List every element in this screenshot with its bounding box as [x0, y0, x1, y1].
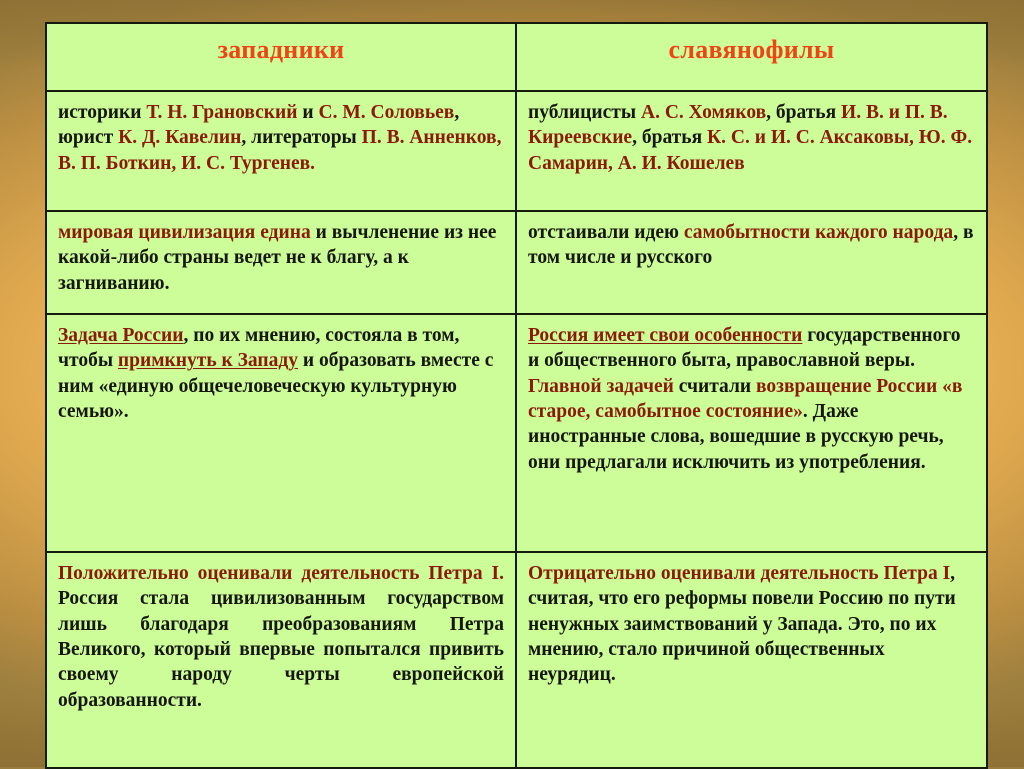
text-segment: , братья — [632, 127, 707, 148]
text-segment: , братья — [766, 102, 841, 123]
text-segment: мировая цивилизация едина — [58, 222, 311, 243]
column-header-westernizers: западники — [46, 23, 516, 91]
table-row: историки Т. Н. Грановский и С. М. Соловь… — [46, 91, 987, 211]
text-segment: Россия стала цивилизованным государством… — [58, 588, 504, 710]
cell-representatives-west: историки Т. Н. Грановский и С. М. Соловь… — [46, 91, 516, 211]
table-row: мировая цивилизация едина и вычленение и… — [46, 211, 987, 314]
text-segment: С. М. Соловьев — [319, 102, 455, 123]
slide-canvas: западники славянофилы историки Т. Н. Гра… — [0, 0, 1024, 767]
cell-civilization-view-slav: отстаивали идею самобытности каждого нар… — [516, 211, 987, 314]
comparison-table-wrapper: западники славянофилы историки Т. Н. Гра… — [45, 22, 986, 769]
text-segment: публицисты — [528, 102, 641, 123]
text-segment: Отрицательно оценивали деятельность Петр… — [528, 563, 950, 584]
text-segment: А. С. Хомяков — [641, 102, 766, 123]
text-segment: Россия имеет свои особенности — [528, 325, 802, 346]
cell-peter-the-great-slav: Отрицательно оценивали деятельность Петр… — [516, 552, 987, 768]
cell-civilization-view-west: мировая цивилизация едина и вычленение и… — [46, 211, 516, 314]
text-segment: К. Д. Кавелин — [118, 127, 241, 148]
cell-peter-the-great-west: Положительно оценивали деятельность Петр… — [46, 552, 516, 768]
text-segment: , литераторы — [241, 127, 361, 148]
text-segment: Главной задачей — [528, 376, 674, 397]
cell-representatives-slav: публицисты А. С. Хомяков, братья И. В. и… — [516, 91, 987, 211]
text-segment: отстаивали идею — [528, 222, 684, 243]
comparison-table: западники славянофилы историки Т. Н. Гра… — [45, 22, 988, 769]
table-row: Задача России, по их мнению, состояла в … — [46, 314, 987, 552]
text-segment: историки — [58, 102, 146, 123]
text-segment: Т. Н. Грановский — [146, 102, 297, 123]
cell-russia-task-west: Задача России, по их мнению, состояла в … — [46, 314, 516, 552]
text-segment: и — [298, 102, 319, 123]
table-header-row: западники славянофилы — [46, 23, 987, 91]
text-segment: считали — [674, 376, 756, 397]
text-segment: примкнуть к Западу — [118, 350, 298, 371]
table-row: Положительно оценивали деятельность Петр… — [46, 552, 987, 768]
text-segment: самобытности каждого народа — [684, 222, 953, 243]
text-segment: Положительно оценивали деятельность Петр… — [58, 563, 504, 584]
text-segment: Задача России — [58, 325, 183, 346]
cell-russia-task-slav: Россия имеет свои особенности государств… — [516, 314, 987, 552]
column-header-slavophiles: славянофилы — [516, 23, 987, 91]
